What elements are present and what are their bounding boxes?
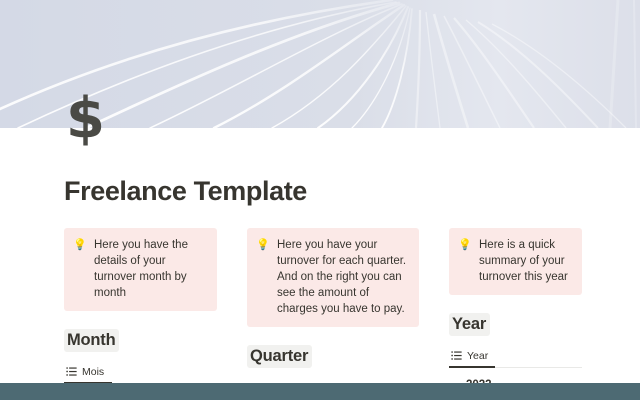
bottom-bar <box>0 383 640 400</box>
list-view-icon <box>451 350 462 361</box>
list-view-icon <box>66 366 77 377</box>
column-quarter: 💡 Here you have your turnover for each q… <box>247 228 419 400</box>
callout-month[interactable]: 💡 Here you have the details of your turn… <box>64 228 217 311</box>
database-tabbar-year: Year <box>449 345 582 368</box>
callout-text: Here you have your turnover for each qua… <box>277 237 409 317</box>
database-tabbar-month: Mois <box>64 361 217 384</box>
callout-text: Here is a quick summary of your turnover… <box>479 237 572 285</box>
tab-label: Mois <box>82 366 104 378</box>
dollar-sign-icon[interactable]: $ <box>66 90 122 150</box>
lightbulb-icon: 💡 <box>256 237 269 253</box>
callout-text: Here you have the details of your turnov… <box>94 237 207 301</box>
callout-year[interactable]: 💡 Here is a quick summary of your turnov… <box>449 228 582 295</box>
database-heading-year[interactable]: Year <box>449 313 490 336</box>
tab-year[interactable]: Year <box>449 345 490 366</box>
tab-active-underline <box>449 366 495 368</box>
tab-mois[interactable]: Mois <box>64 361 106 382</box>
database-heading-quarter[interactable]: Quarter <box>247 345 312 368</box>
column-list: 💡 Here you have the details of your turn… <box>64 228 584 400</box>
database-month: Month Mois <box>64 329 217 384</box>
lightbulb-icon: 💡 <box>73 237 86 253</box>
page-title[interactable]: Freelance Template <box>64 174 307 208</box>
tab-label: Year <box>467 350 488 362</box>
column-month: 💡 Here you have the details of your turn… <box>64 228 217 391</box>
database-heading-month[interactable]: Month <box>64 329 119 352</box>
column-year: 💡 Here is a quick summary of your turnov… <box>449 228 582 395</box>
callout-quarter[interactable]: 💡 Here you have your turnover for each q… <box>247 228 419 327</box>
lightbulb-icon: 💡 <box>458 237 471 253</box>
